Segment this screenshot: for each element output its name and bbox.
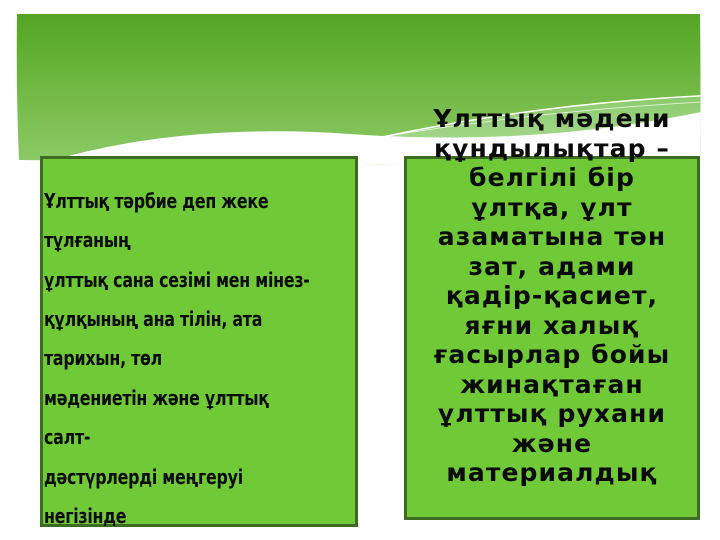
left-box-paragraph: Ұлттық тәрбие деп жеке тұлғаның ұлттық с…	[44, 182, 311, 540]
slide-canvas: Ұлттық тәрбие деп жеке тұлғаның ұлттық с…	[0, 0, 720, 540]
right-box-paragraph: Ұлттық мәдени құндылықтар – белгілі бір …	[398, 104, 706, 488]
